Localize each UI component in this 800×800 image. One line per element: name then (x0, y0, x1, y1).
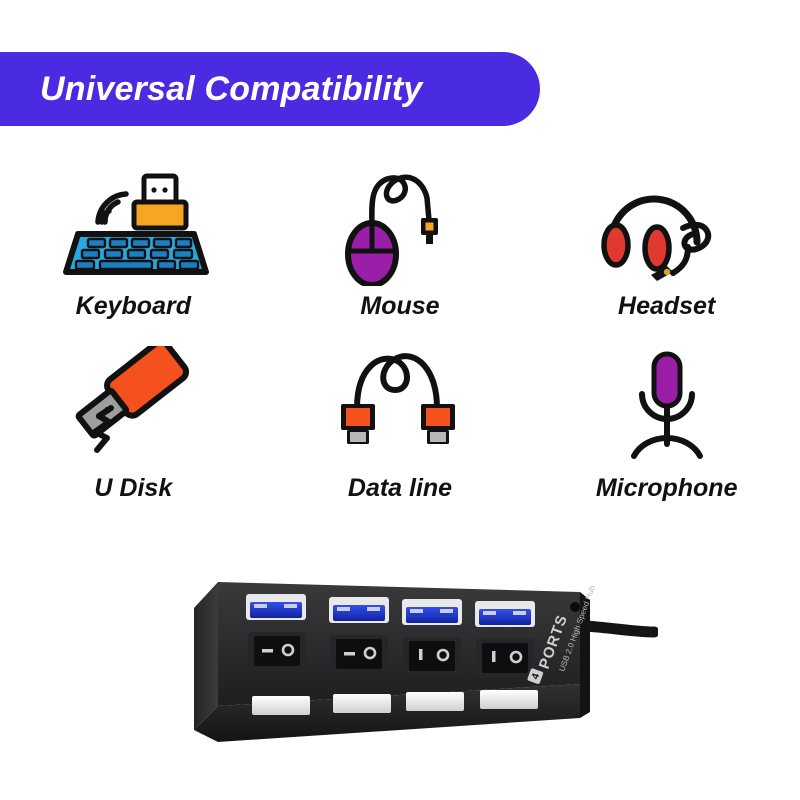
compat-label-microphone: Microphone (596, 474, 738, 503)
power-switch (330, 635, 388, 673)
usb-hub-photo: PORTS USB 2.0 High Speed Hub 4 (188, 566, 658, 756)
banner-title: Universal Compatibility (40, 70, 422, 109)
usb-hub-illustration: PORTS USB 2.0 High Speed Hub 4 (188, 566, 658, 756)
usb-port (329, 597, 389, 623)
led-indicator (252, 696, 310, 715)
microphone-art (592, 346, 742, 464)
keyboard-art (48, 168, 218, 286)
compat-label-mouse: Mouse (360, 292, 439, 321)
led-indicator (406, 692, 464, 711)
wireless-keyboard-icon (48, 168, 218, 286)
headset-art (587, 168, 747, 286)
usb-flash-drive-icon (53, 346, 213, 464)
dataline-art (325, 346, 475, 464)
power-switch (476, 639, 534, 677)
udisk-art (53, 346, 213, 464)
computer-mouse-icon (325, 168, 475, 286)
power-switch (248, 632, 306, 670)
led-indicator (480, 690, 538, 709)
compat-label-headset: Headset (618, 292, 715, 321)
compat-item-udisk: U Disk (0, 346, 267, 521)
compat-label-udisk: U Disk (94, 474, 172, 503)
compat-label-keyboard: Keyboard (76, 292, 191, 321)
infographic-page: Universal Compatibility (0, 0, 800, 800)
compat-item-microphone: Microphone (533, 346, 800, 521)
usb-port (402, 599, 462, 625)
led-indicator (333, 694, 391, 713)
compatibility-grid: Keyboard Mouse (0, 168, 800, 521)
usb-port (246, 594, 306, 620)
power-switch (403, 637, 461, 675)
compat-label-dataline: Data line (348, 474, 452, 503)
compat-item-keyboard: Keyboard (0, 168, 267, 346)
compat-item-dataline: Data line (267, 346, 534, 521)
banner-universal-compatibility: Universal Compatibility (0, 52, 540, 126)
compat-item-headset: Headset (533, 168, 800, 346)
headset-icon (587, 168, 747, 286)
usb-port (475, 601, 535, 627)
mouse-art (325, 168, 475, 286)
compat-item-mouse: Mouse (267, 168, 534, 346)
microphone-icon (592, 346, 742, 464)
usb-data-cable-icon (325, 346, 475, 464)
